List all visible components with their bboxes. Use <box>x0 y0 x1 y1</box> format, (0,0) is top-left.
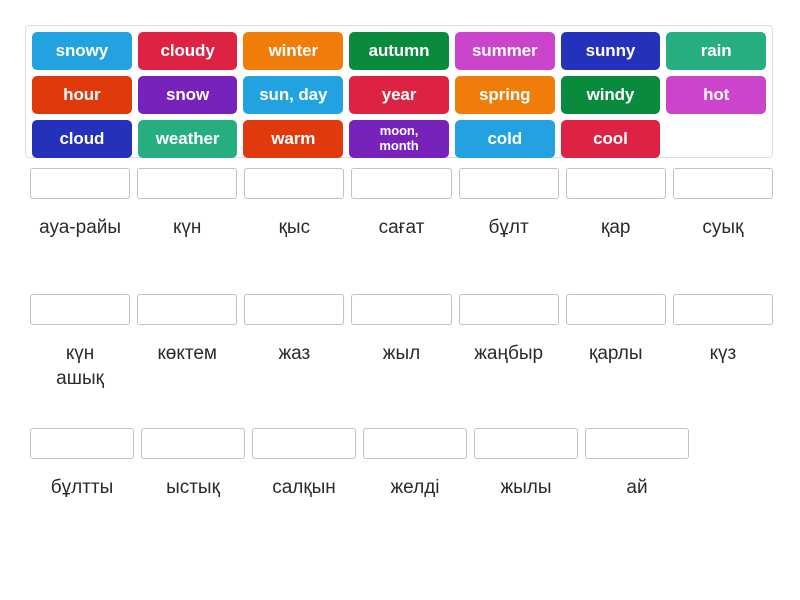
word-tile[interactable]: spring <box>455 76 555 114</box>
drop-box[interactable] <box>244 168 344 199</box>
drop-box[interactable] <box>137 168 237 199</box>
prompt-label: суық <box>673 215 773 241</box>
word-tile[interactable]: snow <box>138 76 238 114</box>
word-tile[interactable]: cool <box>561 120 661 158</box>
drop-box[interactable] <box>566 294 666 325</box>
label-row-3: бұлттыыстықсалқынжелдіжылыай <box>25 475 775 501</box>
word-tile[interactable]: sun, day <box>243 76 343 114</box>
drop-box[interactable] <box>252 428 356 459</box>
drop-box[interactable] <box>363 428 467 459</box>
word-tile[interactable]: summer <box>455 32 555 70</box>
word-tile[interactable]: windy <box>561 76 661 114</box>
drop-box[interactable] <box>351 168 451 199</box>
drop-row-1 <box>25 168 775 199</box>
prompt-label: ай <box>585 475 689 501</box>
drop-row-2 <box>25 294 775 325</box>
answer-row-3: бұлттыыстықсалқынжелдіжылыай <box>25 428 775 501</box>
drop-box[interactable] <box>30 428 134 459</box>
tile-bank-row-2: hoursnowsun, dayyearspringwindyhot <box>32 76 772 117</box>
drop-box[interactable] <box>474 428 578 459</box>
drop-box[interactable] <box>137 294 237 325</box>
word-tile[interactable]: autumn <box>349 32 449 70</box>
drop-box[interactable] <box>30 168 130 199</box>
word-tile[interactable]: hot <box>666 76 766 114</box>
drop-box[interactable] <box>30 294 130 325</box>
prompt-label: ыстық <box>141 475 245 501</box>
drop-box[interactable] <box>459 294 559 325</box>
word-tile[interactable]: snowy <box>32 32 132 70</box>
prompt-label: желді <box>363 475 467 501</box>
drop-box[interactable] <box>351 294 451 325</box>
prompt-label: жылы <box>474 475 578 501</box>
prompt-label: қар <box>566 215 666 241</box>
prompt-label: қыс <box>244 215 344 241</box>
prompt-label: ауа-райы <box>30 215 130 241</box>
word-tile[interactable]: winter <box>243 32 343 70</box>
prompt-label: жаңбыр <box>459 341 559 392</box>
drop-box[interactable] <box>673 168 773 199</box>
word-tile[interactable]: warm <box>243 120 343 158</box>
word-tile[interactable]: cold <box>455 120 555 158</box>
prompt-label: салқын <box>252 475 356 501</box>
word-tile[interactable]: cloud <box>32 120 132 158</box>
prompt-label: сағат <box>351 215 451 241</box>
row-spacer <box>25 400 775 428</box>
word-tile[interactable]: cloudy <box>138 32 238 70</box>
label-row-2: күнашықкөктемжазжылжаңбырқарлыкүз <box>25 341 775 392</box>
word-tile[interactable]: year <box>349 76 449 114</box>
drop-box[interactable] <box>141 428 245 459</box>
prompt-label: күнашық <box>30 341 130 392</box>
drop-box[interactable] <box>673 294 773 325</box>
tile-bank: snowycloudywinterautumnsummersunnyrain h… <box>25 25 773 158</box>
tile-slot-empty <box>666 120 766 158</box>
drop-row-3 <box>25 428 775 459</box>
drop-box[interactable] <box>585 428 689 459</box>
prompt-label: қарлы <box>566 341 666 392</box>
prompt-label: көктем <box>137 341 237 392</box>
tile-bank-row-1: snowycloudywinterautumnsummersunnyrain <box>32 32 772 73</box>
row-spacer <box>25 249 775 294</box>
drop-box[interactable] <box>459 168 559 199</box>
prompt-label: бұлтты <box>30 475 134 501</box>
answer-area: ауа-райыкүнқыссағатбұлтқарсуық күнашықкө… <box>25 168 775 509</box>
word-tile[interactable]: sunny <box>561 32 661 70</box>
word-tile[interactable]: hour <box>32 76 132 114</box>
drop-box[interactable] <box>566 168 666 199</box>
prompt-label: жаз <box>244 341 344 392</box>
label-row-1: ауа-райыкүнқыссағатбұлтқарсуық <box>25 215 775 241</box>
answer-row-2: күнашықкөктемжазжылжаңбырқарлыкүз <box>25 294 775 392</box>
answer-row-1: ауа-райыкүнқыссағатбұлтқарсуық <box>25 168 775 241</box>
drop-box[interactable] <box>244 294 344 325</box>
tile-bank-row-3: cloudweatherwarmmoon,monthcoldcool <box>32 120 772 161</box>
prompt-label: бұлт <box>459 215 559 241</box>
prompt-label: күз <box>673 341 773 392</box>
prompt-label: күн <box>137 215 237 241</box>
prompt-label: жыл <box>351 341 451 392</box>
word-tile[interactable]: moon,month <box>349 120 449 158</box>
word-tile[interactable]: rain <box>666 32 766 70</box>
word-tile[interactable]: weather <box>138 120 238 158</box>
